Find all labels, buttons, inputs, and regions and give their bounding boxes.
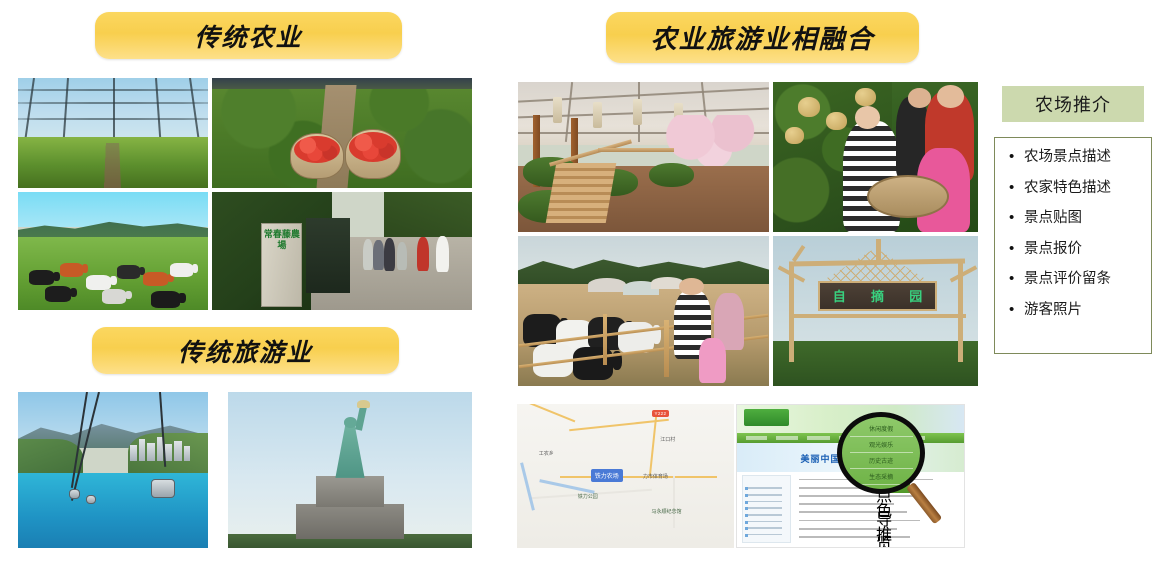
- sign-char-2: 摘: [871, 286, 884, 305]
- cable-car-cabin: [151, 479, 175, 498]
- hanging-lamp: [553, 97, 562, 123]
- building: [165, 444, 172, 460]
- visitor: [363, 239, 373, 270]
- photo-bamboo-arch-gate: 自 摘 园: [773, 236, 978, 386]
- fence-post: [664, 320, 669, 377]
- list-item[interactable]: 景点评价留条: [1007, 272, 1145, 287]
- cable-car-cabin-far: [86, 495, 96, 504]
- fence-post: [603, 314, 607, 365]
- pear-fruit: [785, 127, 803, 144]
- map-poi-label: 马永顺纪念馆: [652, 508, 682, 515]
- site-nav-item[interactable]: [776, 436, 799, 440]
- sign-char-1: 自: [833, 286, 846, 305]
- child-pink-skirt: [699, 338, 727, 383]
- cow: [60, 263, 83, 277]
- photo-visitors-feeding-cattle: [518, 236, 769, 386]
- sidebar-link[interactable]: [748, 521, 782, 523]
- hanging-lamp: [593, 102, 602, 128]
- site-logo: [744, 409, 789, 426]
- hedge-row: [773, 341, 978, 386]
- strawberry-basket: [290, 133, 344, 179]
- article-link[interactable]: [799, 495, 913, 497]
- photo-children-picking-fruit: [773, 82, 978, 232]
- strawberry-basket: [345, 129, 402, 179]
- magnified-menu-item: 观光娱乐: [850, 437, 913, 452]
- cable-car-cabin-far: [69, 489, 80, 499]
- magnified-menu-item: 生态采摘: [850, 469, 913, 484]
- gate-pillar-sign-text: 常春藤農場: [262, 229, 301, 251]
- city-skyline: [128, 436, 193, 461]
- hanging-lamp: [633, 99, 642, 125]
- promo-feature-list: 农场景点描述 农家特色描述 景点贴图 景点报价 景点评价留条 游客照片: [994, 137, 1152, 354]
- photo-strawberry-field-baskets: [212, 78, 472, 188]
- building: [147, 443, 155, 460]
- shrub: [649, 163, 694, 187]
- banner-traditional-agriculture-label: 传统农业: [194, 18, 302, 54]
- gate-panel: [306, 218, 350, 294]
- building: [130, 445, 137, 460]
- photo-statue-of-liberty: [228, 392, 472, 548]
- cow: [117, 265, 140, 279]
- sidebar-link[interactable]: [748, 527, 782, 529]
- deck-railing: [598, 148, 673, 152]
- photo-farm-entrance-gate: 常春藤農場: [212, 192, 472, 310]
- wicker-basket: [867, 175, 949, 218]
- list-item[interactable]: 游客照片: [1007, 303, 1145, 318]
- article-link[interactable]: [799, 536, 910, 538]
- banner-agri-tourism-fusion: 农业旅游业相融合: [606, 12, 919, 63]
- article-link[interactable]: [799, 520, 920, 522]
- building: [174, 441, 182, 461]
- site-nav-item[interactable]: [807, 436, 830, 440]
- bay-water: [18, 473, 208, 548]
- statue-base: [296, 504, 403, 538]
- cow: [143, 272, 168, 286]
- map-place-label: 力市体育场: [643, 473, 668, 480]
- map-farm-marker[interactable]: 铁力农场: [591, 469, 623, 482]
- wooden-staircase: [545, 163, 616, 223]
- arch-crossbar: [789, 314, 965, 318]
- map-road-minor: [673, 476, 675, 528]
- photo-greenhouse-crop-tunnel: [18, 78, 208, 188]
- sidebar-link[interactable]: [748, 507, 782, 509]
- map-place-label: 工农乡: [539, 450, 554, 457]
- photo-farm-location-map: Y222 工农乡 江口村 铁力公园 力市体育场 马永顺纪念馆 铁力农场 农场位置…: [517, 404, 734, 548]
- cow: [102, 289, 127, 304]
- statue-torch: [357, 400, 369, 408]
- sky: [18, 192, 208, 227]
- site-nav-item[interactable]: [746, 436, 766, 440]
- list-item[interactable]: 农场景点描述: [1007, 150, 1145, 165]
- banner-agri-tourism-fusion-label: 农业旅游业相融合: [650, 19, 874, 56]
- cow: [151, 291, 180, 308]
- holstein-cow: [573, 347, 613, 380]
- strawberries: [349, 132, 397, 162]
- holstein-cow: [618, 322, 653, 354]
- banner-traditional-agriculture: 传统农业: [95, 12, 402, 59]
- pear-fruit: [855, 88, 876, 106]
- adult-face: [937, 85, 964, 108]
- strawberries: [294, 136, 340, 163]
- pear-fruit: [826, 112, 847, 130]
- magnified-menu-item: 历史古迹: [850, 453, 913, 468]
- visitor-face: [679, 278, 704, 295]
- photo-cable-car-over-bay: [18, 392, 208, 548]
- cow: [86, 275, 111, 290]
- umbrella: [588, 278, 626, 292]
- magnified-menu-item: 休闲度假: [850, 421, 913, 436]
- sidebar-link[interactable]: [748, 514, 782, 516]
- statue-pedestal: [316, 476, 384, 507]
- list-item[interactable]: 景点报价: [1007, 242, 1145, 257]
- child-face: [908, 88, 931, 108]
- site-sidebar: [742, 475, 792, 543]
- map-route-shield: Y222: [652, 410, 670, 417]
- sidebar-link[interactable]: [748, 494, 782, 496]
- sidebar-link[interactable]: [748, 501, 782, 503]
- visitor: [373, 240, 383, 270]
- list-item[interactable]: 景点贴图: [1007, 211, 1145, 226]
- map-road-main: [560, 476, 716, 478]
- photo-greenhouse-garden-walkway: [518, 82, 769, 232]
- promo-feature-list-items: 农场景点描述 农家特色描述 景点贴图 景点报价 景点评价留条 游客照片: [1007, 150, 1145, 317]
- visitor: [417, 237, 429, 271]
- cow: [45, 286, 72, 301]
- building: [184, 446, 190, 460]
- promo-panel-header: 农场推介: [1002, 86, 1144, 122]
- arch-apex: [876, 239, 881, 263]
- child-face: [855, 106, 880, 129]
- banner-traditional-tourism: 传统旅游业: [92, 327, 399, 374]
- banner-traditional-tourism-label: 传统旅游业: [178, 333, 313, 369]
- visitor: [397, 242, 407, 270]
- promo-panel-title: 农场推介: [1035, 91, 1111, 117]
- map-place-label: 江口村: [660, 436, 675, 443]
- sidebar-link[interactable]: [748, 487, 782, 489]
- cow: [170, 263, 193, 277]
- photo-cattle-grazing-pasture: [18, 192, 208, 310]
- visitor: [384, 238, 396, 271]
- visitor: [436, 236, 449, 273]
- cow: [29, 270, 54, 285]
- greenhouse-path: [104, 143, 121, 188]
- map-poi-label: 铁力公园: [578, 493, 598, 500]
- sidebar-link[interactable]: [748, 534, 782, 536]
- photo-rural-tourism-website: 美丽中国乡村行 景点导览 特色推荐 休闲度假 观光娱乐 历史古迹: [736, 404, 965, 548]
- sign-char-3: 园: [909, 286, 922, 305]
- gate-pillar: 常春藤農場: [261, 223, 302, 308]
- building: [139, 439, 145, 460]
- pear-fruit: [798, 97, 821, 117]
- greenhouse-rib: [113, 78, 115, 142]
- bamboo-arch-sign: 自 摘 园: [818, 281, 937, 311]
- list-item[interactable]: 农家特色描述: [1007, 181, 1145, 196]
- cherry-blossom-trees: [659, 115, 764, 166]
